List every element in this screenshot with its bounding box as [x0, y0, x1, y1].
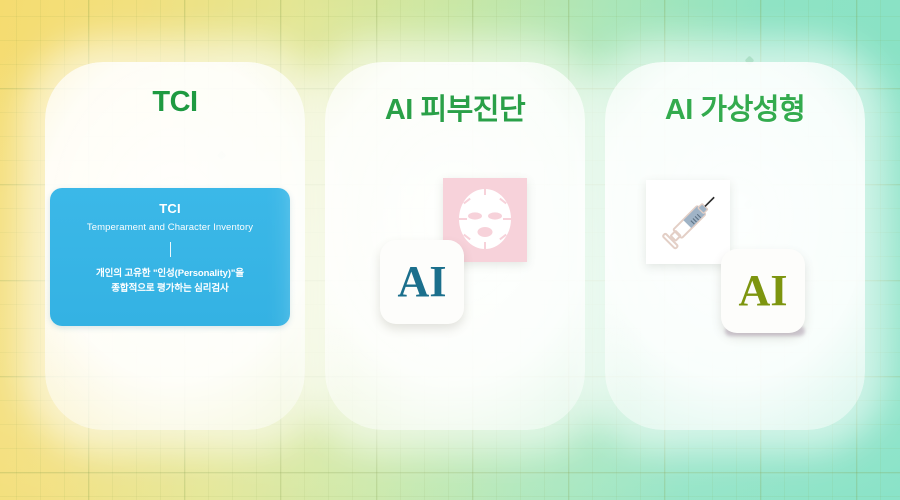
tci-description-line-1: 개인의 고유한 "인성(Personality)"을	[50, 267, 290, 282]
tci-info-panel: TCI Temperament and Character Inventory …	[50, 188, 290, 326]
card-ai-virtual-surgery-title: AI 가상성형	[605, 86, 865, 128]
card-tci-title: TCI	[45, 86, 305, 119]
ai-label-tile-skin: AI	[380, 240, 464, 324]
syringe-icon	[646, 180, 730, 264]
ai-label-text: AI	[398, 260, 447, 304]
card-ai-skin-diagnosis-title: AI 피부진단	[325, 86, 585, 128]
tci-description-line-2: 종합적으로 평가하는 심리검사	[50, 282, 290, 297]
banner-stage: TCI TCI Temperament and Character Invent…	[0, 0, 900, 500]
tci-divider	[170, 242, 171, 257]
ai-label-tile-surgery: AI	[721, 249, 805, 333]
ai-label-text: AI	[739, 269, 788, 313]
tci-abbreviation: TCI	[50, 201, 290, 216]
tci-full-name: Temperament and Character Inventory	[50, 222, 290, 233]
card-row: TCI TCI Temperament and Character Invent…	[0, 0, 900, 500]
